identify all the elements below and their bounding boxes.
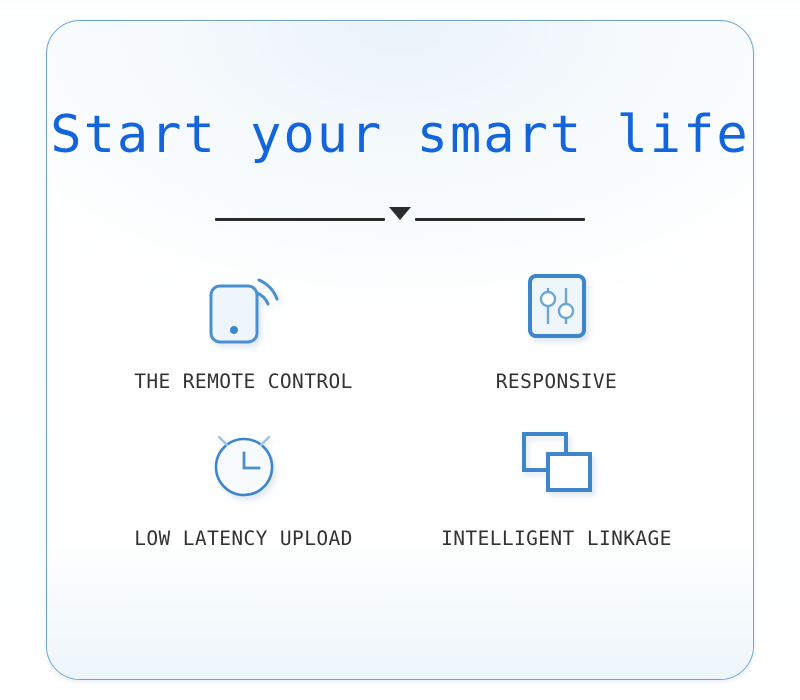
- feature-item-responsive[interactable]: RESPONSIVE: [400, 256, 713, 393]
- feature-label: INTELLIGENT LINKAGE: [441, 527, 672, 550]
- feature-item-low-latency-upload[interactable]: LOW LATENCY UPLOAD: [87, 413, 400, 550]
- divider-line-right: [415, 218, 585, 221]
- top-panel-sliver: [0, 0, 800, 14]
- feature-item-intelligent-linkage[interactable]: INTELLIGENT LINKAGE: [400, 413, 713, 550]
- linked-windows-icon: [514, 413, 600, 513]
- feature-label: RESPONSIVE: [496, 370, 617, 393]
- feature-label: LOW LATENCY UPLOAD: [134, 527, 353, 550]
- remote-control-icon: [205, 256, 283, 356]
- caret-down-icon: [389, 207, 411, 220]
- feature-grid: THE REMOTE CONTROL RESPONSIVE: [87, 256, 713, 550]
- feature-card: Start your smart life: [46, 20, 754, 680]
- page-root: Start your smart life: [0, 0, 800, 700]
- page-title: Start your smart life: [47, 105, 753, 165]
- feature-label: THE REMOTE CONTROL: [134, 370, 353, 393]
- feature-item-remote-control[interactable]: THE REMOTE CONTROL: [87, 256, 400, 393]
- sliders-panel-icon: [521, 256, 593, 356]
- alarm-clock-icon: [204, 413, 284, 513]
- divider: [47, 199, 753, 239]
- divider-line-left: [215, 218, 385, 221]
